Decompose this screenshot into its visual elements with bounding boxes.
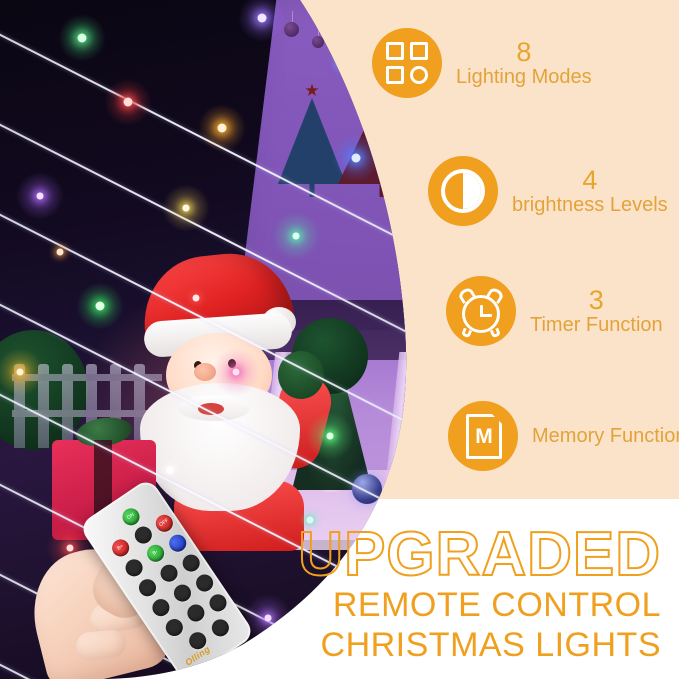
- product-marketing-image: ★ ★: [0, 0, 679, 679]
- feature-lighting-modes[interactable]: 8 Lighting Modes: [372, 28, 592, 98]
- contrast-icon: [428, 156, 498, 226]
- feature-timer-function[interactable]: 3 Timer Function: [446, 276, 663, 346]
- headline-remote-control: REMOTE CONTROL: [0, 586, 661, 625]
- memory-document-icon: M: [448, 401, 518, 471]
- headline-upgraded: UPGRADED: [0, 525, 661, 586]
- feature-label: brightness Levels: [512, 195, 668, 215]
- alarm-clock-icon: [446, 276, 516, 346]
- feature-number: 8: [516, 39, 531, 67]
- feature-number: 4: [582, 167, 597, 195]
- feature-number: 3: [589, 287, 604, 315]
- feature-brightness-levels[interactable]: 4 brightness Levels: [428, 156, 668, 226]
- memory-letter: M: [469, 425, 499, 449]
- grid-icon: [372, 28, 442, 98]
- feature-label: Memory Function: [532, 426, 679, 446]
- feature-label: Lighting Modes: [456, 67, 592, 87]
- feature-label: Timer Function: [530, 315, 663, 335]
- feature-memory-function[interactable]: M Memory Function: [448, 401, 679, 471]
- headline-block: UPGRADED REMOTE CONTROL CHRISTMAS LIGHTS: [0, 525, 679, 665]
- headline-christmas-lights: CHRISTMAS LIGHTS: [0, 626, 661, 665]
